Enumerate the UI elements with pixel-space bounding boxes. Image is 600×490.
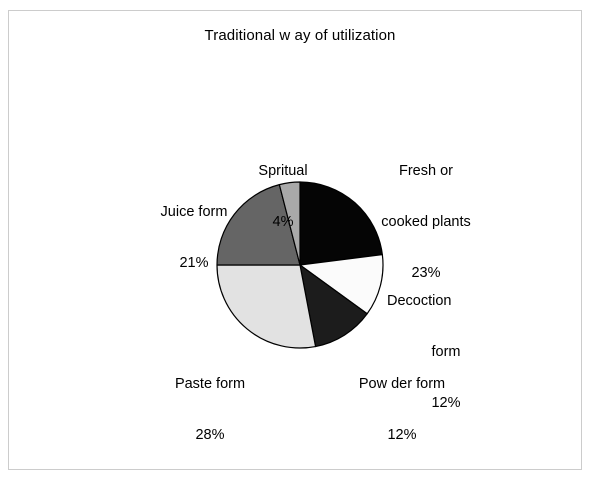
pie-label-juice-name: Juice form	[128, 204, 260, 221]
pie-label-powder-form: Pow der form 12%	[332, 342, 472, 478]
pie-label-powder-value: 12%	[332, 427, 472, 444]
pie-label-juice-form: Juice form 21%	[128, 170, 260, 306]
pie-label-fresh-line2: cooked plants	[352, 214, 500, 231]
pie-label-decoction-line1: Decoction	[387, 293, 505, 310]
pie-label-juice-value: 21%	[128, 255, 260, 272]
pie-label-powder-name: Pow der form	[332, 376, 472, 393]
pie-label-paste-form: Paste form 28%	[140, 342, 280, 478]
pie-label-paste-value: 28%	[140, 427, 280, 444]
pie-label-fresh-line1: Fresh or	[352, 163, 500, 180]
figure-canvas: Traditional w ay of utilization Spritual…	[0, 0, 600, 485]
pie-label-paste-name: Paste form	[140, 376, 280, 393]
